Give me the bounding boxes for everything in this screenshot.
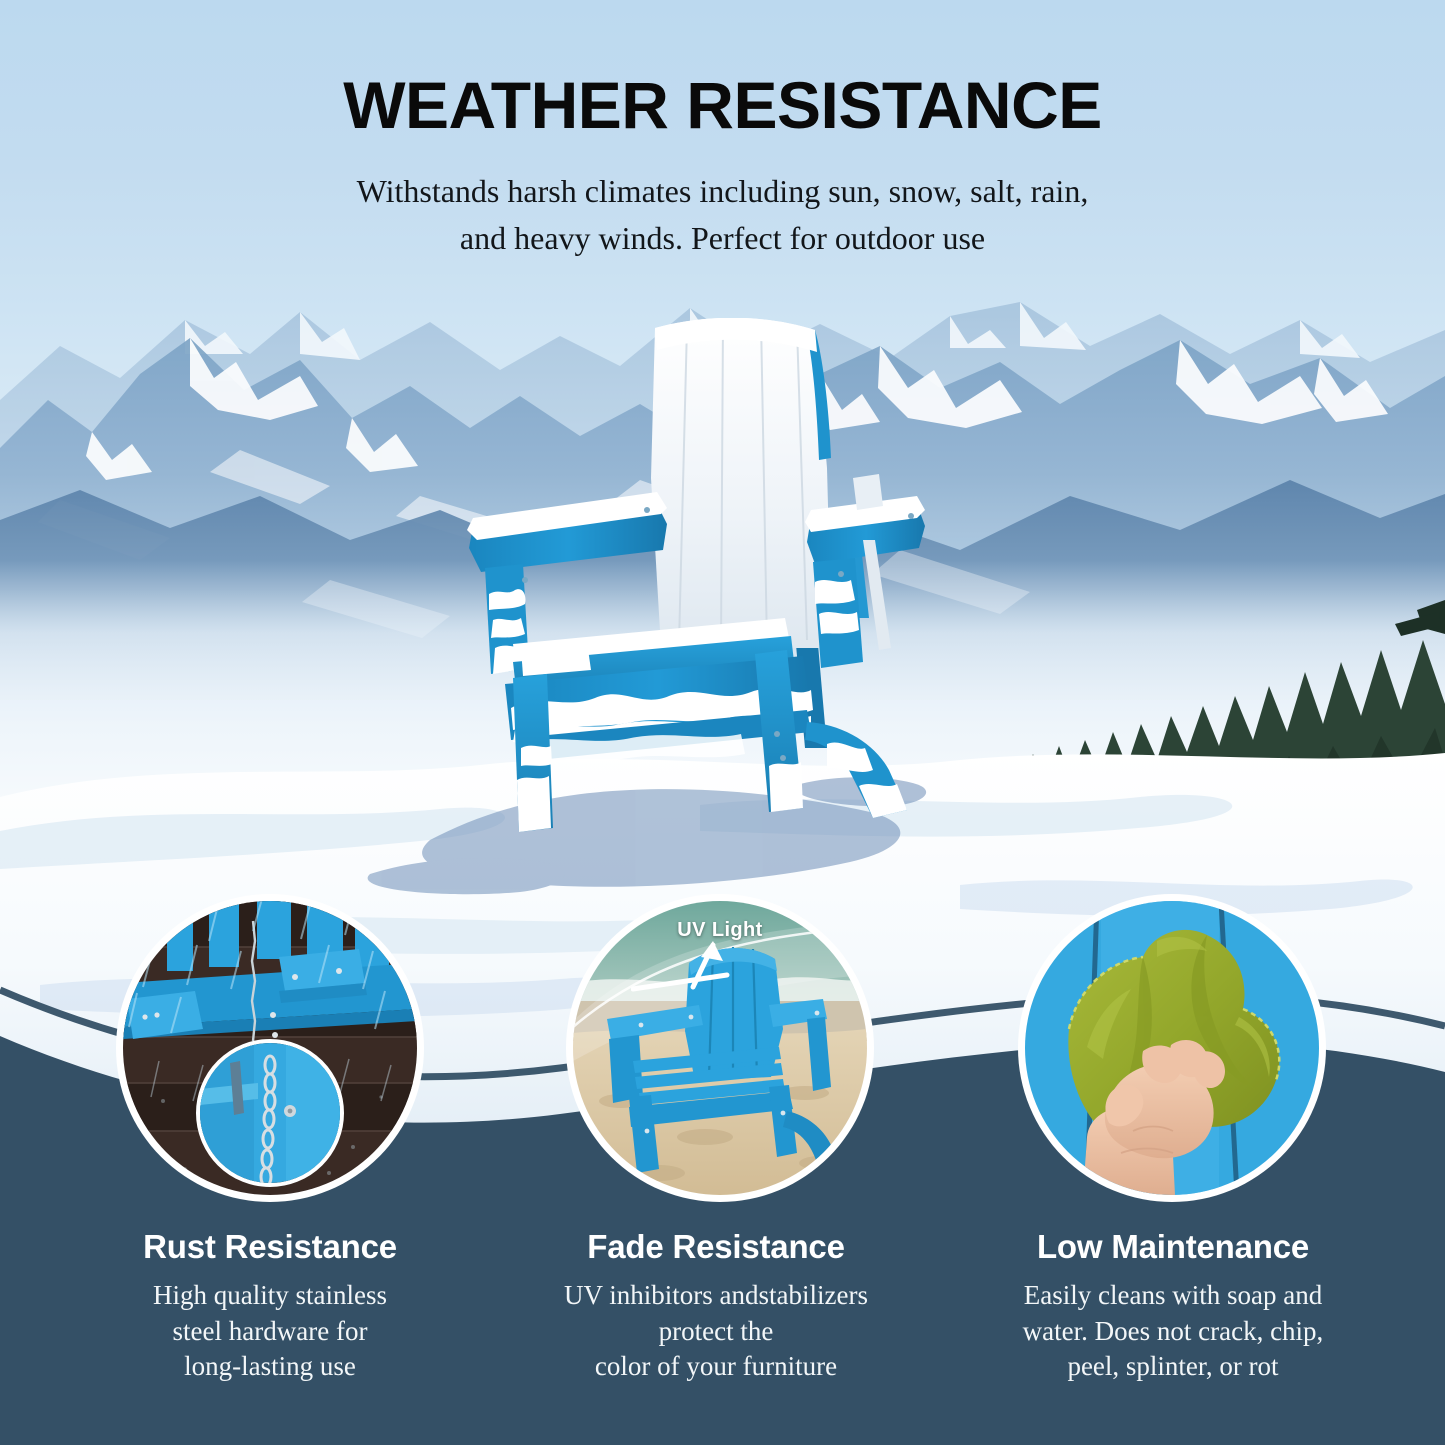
desc-line: protect the — [521, 1314, 911, 1350]
desc-line: Easily cleans with soap and — [978, 1278, 1368, 1314]
feature-image-fade-resistance[interactable]: UV Light — [566, 894, 874, 1202]
feature-text-fade-resistance: Fade Resistance UV inhibitors andstabili… — [521, 1228, 911, 1385]
desc-line: long-lasting use — [75, 1349, 465, 1385]
feature-desc-rust-resistance: High quality stainless steel hardware fo… — [75, 1278, 465, 1385]
feature-image-low-maintenance[interactable] — [1018, 894, 1326, 1202]
feature-title-low-maintenance: Low Maintenance — [978, 1228, 1368, 1266]
feature-title-fade-resistance: Fade Resistance — [521, 1228, 911, 1266]
chain-closeup-illustration — [200, 1043, 340, 1183]
circle-clip-3 — [1025, 901, 1319, 1195]
infographic-canvas: WEATHER RESISTANCE Withstands harsh clim… — [0, 0, 1445, 1445]
desc-line: color of your furniture — [521, 1349, 911, 1385]
feature-title-rust-resistance: Rust Resistance — [75, 1228, 465, 1266]
desc-line: High quality stainless — [75, 1278, 465, 1314]
uv-arrow-icon — [631, 939, 741, 1001]
low-maintenance-illustration — [1025, 901, 1319, 1195]
feature-desc-fade-resistance: UV inhibitors andstabilizers protect the… — [521, 1278, 911, 1385]
feature-desc-low-maintenance: Easily cleans with soap and water. Does … — [978, 1278, 1368, 1385]
desc-line: water. Does not crack, chip, — [978, 1314, 1368, 1350]
uv-light-label: UV Light — [677, 919, 762, 942]
circle-clip-1 — [123, 901, 417, 1195]
desc-line: UV inhibitors andstabilizers — [521, 1278, 911, 1314]
stainless-chain-inset — [196, 1039, 344, 1187]
feature-image-rust-resistance[interactable] — [116, 894, 424, 1202]
desc-line: peel, splinter, or rot — [978, 1349, 1368, 1385]
feature-text-low-maintenance: Low Maintenance Easily cleans with soap … — [978, 1228, 1368, 1385]
feature-text-rust-resistance: Rust Resistance High quality stainless s… — [75, 1228, 465, 1385]
desc-line: steel hardware for — [75, 1314, 465, 1350]
circle-clip-2: UV Light — [573, 901, 867, 1195]
